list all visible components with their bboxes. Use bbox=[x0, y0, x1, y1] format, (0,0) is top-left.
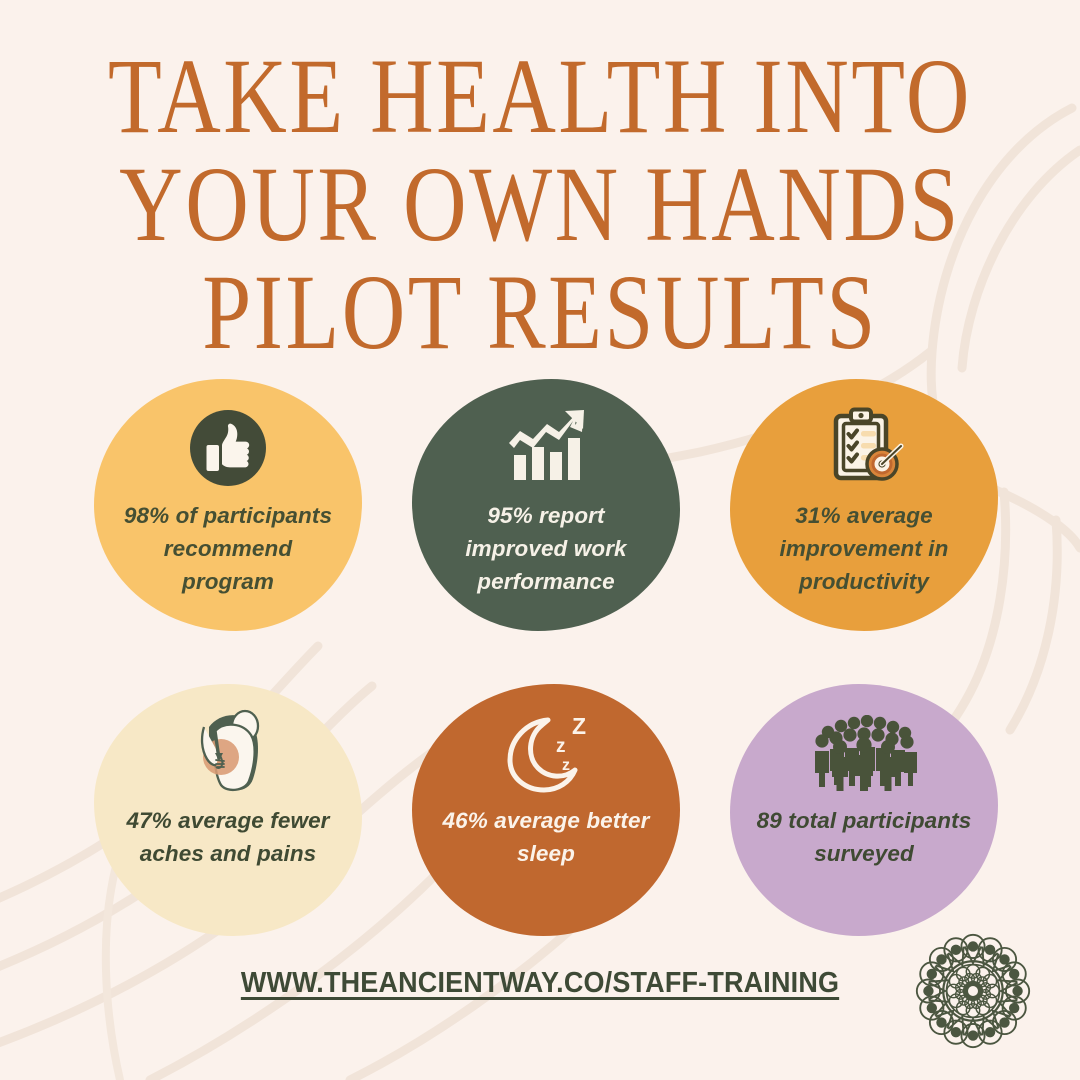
stat-text-fewer-aches-and-pains: 47% average fewer aches and pains bbox=[103, 804, 353, 871]
stat-text-recommend-program: 98% of participants recommend program bbox=[103, 499, 353, 599]
icon-slot bbox=[187, 405, 269, 491]
stat-cell-recommend-program: 98% of participants recommend program bbox=[76, 352, 380, 657]
stat-cell-fewer-aches-and-pains: 47% average fewer aches and pains bbox=[76, 657, 380, 962]
icon-slot bbox=[503, 405, 589, 491]
stat-blob-total-participants-surveyed: 89 total participants surveyed bbox=[730, 684, 998, 936]
svg-text:z: z bbox=[562, 757, 570, 774]
stats-grid: 98% of participants recommend program 95… bbox=[76, 352, 1016, 962]
stat-text-improvement-in-productivity: 31% average improvement in productivity bbox=[739, 499, 989, 599]
svg-text:Z: Z bbox=[572, 713, 586, 739]
stat-cell-better-sleep: Z z z 46% average better sleep bbox=[394, 657, 698, 962]
title-line-1: TAKE HEALTH INTO bbox=[0, 44, 1080, 150]
website-url-link[interactable]: WWW.THEANCIENTWAY.CO/STAFF-TRAINING bbox=[38, 967, 1042, 1000]
icon-slot bbox=[808, 710, 920, 796]
stat-cell-total-participants-surveyed: 89 total participants surveyed bbox=[712, 657, 1016, 962]
title-line-3: PILOT RESULTS bbox=[0, 260, 1080, 366]
thumbs-up-icon bbox=[187, 407, 269, 489]
icon-slot bbox=[179, 710, 277, 796]
stat-text-total-participants-surveyed: 89 total participants surveyed bbox=[739, 804, 989, 871]
icon-slot bbox=[822, 405, 906, 491]
svg-text:z: z bbox=[556, 736, 566, 757]
crowd-of-people-icon bbox=[808, 715, 920, 791]
bar-chart-growth-icon bbox=[503, 408, 589, 488]
stat-blob-fewer-aches-and-pains: 47% average fewer aches and pains bbox=[94, 684, 362, 936]
stat-blob-better-sleep: Z z z 46% average better sleep bbox=[412, 684, 680, 936]
clipboard-checklist-target-icon bbox=[822, 406, 906, 490]
title-line-2: YOUR OWN HANDS bbox=[0, 152, 1080, 258]
page-title: TAKE HEALTH INTO YOUR OWN HANDS PILOT RE… bbox=[0, 44, 1080, 368]
stat-text-improved-work-performance: 95% report improved work performance bbox=[421, 499, 671, 599]
mandala-flower-logo bbox=[908, 926, 1038, 1056]
stat-blob-improvement-in-productivity: 31% average improvement in productivity bbox=[730, 379, 998, 631]
icon-slot: Z z z bbox=[500, 710, 592, 796]
stat-cell-improved-work-performance: 95% report improved work performance bbox=[394, 352, 698, 657]
stat-blob-recommend-program: 98% of participants recommend program bbox=[94, 379, 362, 631]
stat-text-better-sleep: 46% average better sleep bbox=[421, 804, 671, 871]
crescent-moon-zzz-icon: Z z z bbox=[500, 712, 592, 794]
stat-blob-improved-work-performance: 95% report improved work performance bbox=[412, 379, 680, 631]
back-pain-person-icon bbox=[179, 709, 277, 797]
stat-cell-improvement-in-productivity: 31% average improvement in productivity bbox=[712, 352, 1016, 657]
